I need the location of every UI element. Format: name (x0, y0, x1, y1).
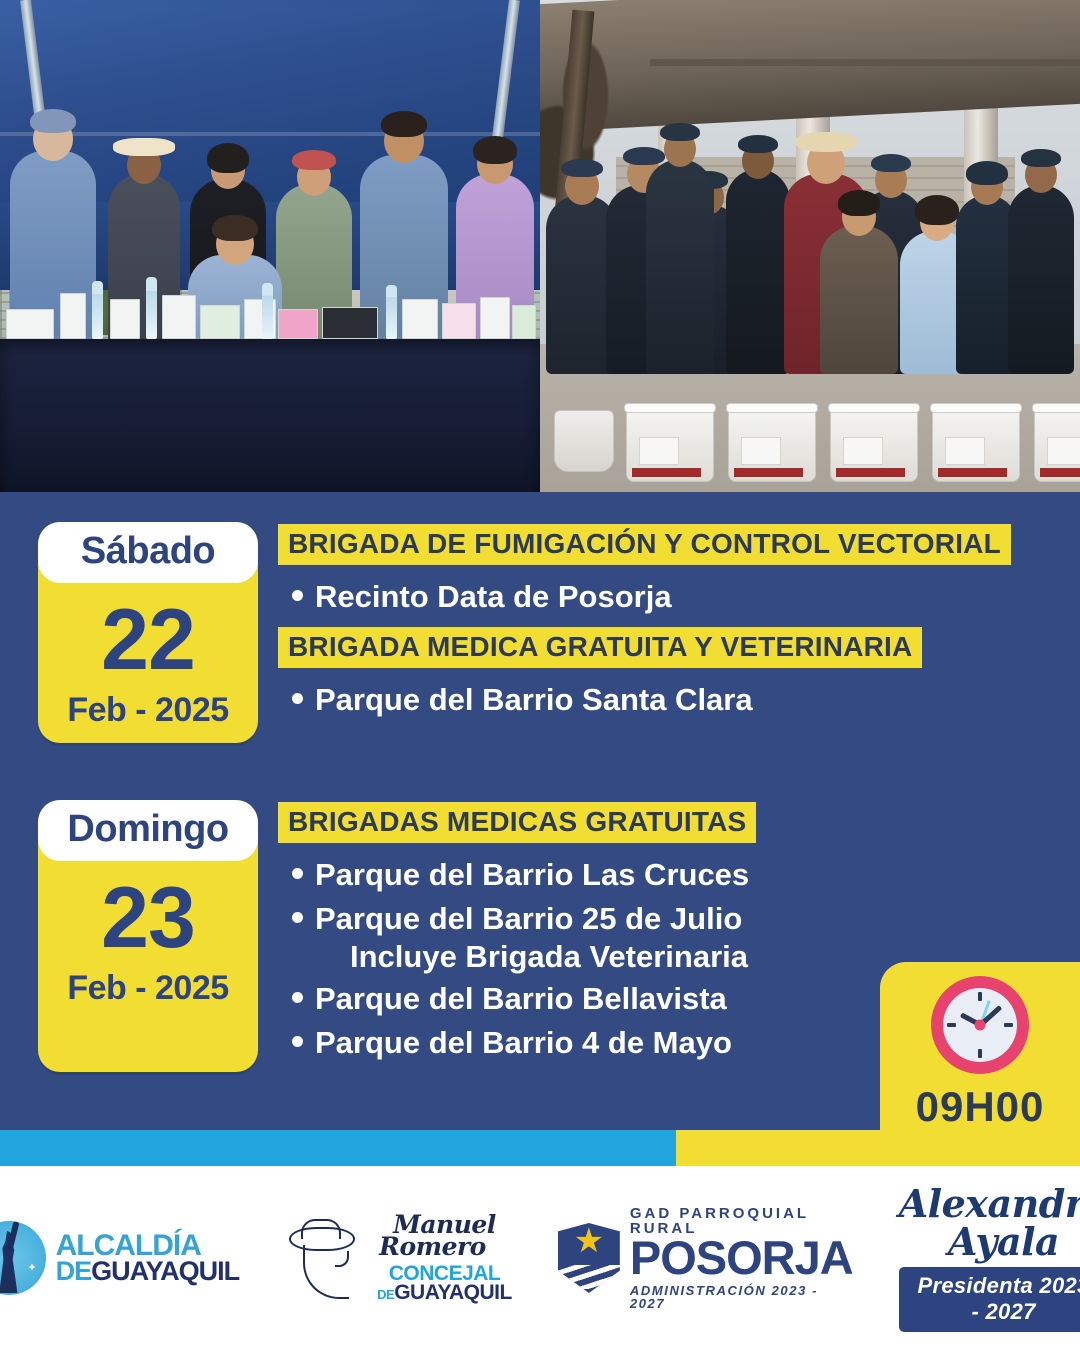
signature-line2: Romero (353, 1236, 512, 1259)
person-cap (1021, 149, 1061, 167)
shield-stripes (554, 1265, 623, 1289)
star-icon: ✦ (27, 1261, 36, 1274)
bullet-icon (292, 693, 303, 704)
person (646, 159, 714, 374)
alcaldia-guayaquil: GUAYAQUIL (91, 1256, 239, 1286)
water-bottle (386, 285, 397, 339)
medicine-boxes-row (0, 276, 540, 340)
clock-face (943, 988, 1017, 1062)
person-hat (113, 138, 175, 156)
medical-brigade-tent-photo (0, 0, 540, 492)
venue-label: Parque del Barrio 4 de Mayo (315, 1023, 732, 1063)
date-card-sunday: Domingo 23 Feb - 2025 (38, 800, 258, 1072)
posorja-wordmark: GAD PARROQUIAL RURAL POSORJA ADMINISTRAC… (630, 1206, 853, 1310)
clock-center-pin (975, 1020, 986, 1031)
event-time-label: 09H00 (916, 1086, 1045, 1128)
venue-label: Parque del Barrio Santa Clara (315, 680, 753, 720)
shield-star-icon: ★ (558, 1223, 620, 1293)
medicine-box (480, 297, 510, 339)
alcaldia-de-guayaquil-logo: ✦ ✦ ALCALDÍA DEGUAYAQUIL (0, 1221, 239, 1295)
person-cap (561, 159, 603, 177)
medicine-box (512, 305, 536, 339)
month-year-label: Feb - 2025 (67, 971, 228, 1021)
venue-label: Recinto Data de Posorja (315, 577, 672, 617)
medicine-box (60, 293, 86, 339)
person-hair (473, 136, 517, 164)
medicine-box (110, 299, 140, 339)
clock-tick-6 (978, 1049, 982, 1058)
bucket-red-band (632, 468, 701, 477)
person-hood (966, 161, 1008, 185)
alexandra-ayala-wordmark: Alexandra Ayala Presidenta 2023 - 2027 (899, 1185, 1080, 1332)
weekday-label: Domingo (38, 800, 258, 861)
venue-label: Parque del Barrio Bellavista (315, 979, 727, 1019)
person-hair (915, 195, 959, 225)
venue-list-medica-veterinaria: Parque del Barrio Santa Clara (278, 678, 1038, 722)
person-hair (207, 143, 249, 173)
white-bucket (554, 410, 614, 472)
bucket-red-band (938, 468, 1007, 477)
alcaldia-wordmark: ALCALDÍA DEGUAYAQUIL (56, 1232, 240, 1284)
medicine-box (402, 299, 438, 339)
guayaquil-monument-icon: ✦ ✦ (0, 1221, 46, 1295)
poster-root: Sábado 22 Feb - 2025 BRIGADA DE FUMIGACI… (0, 0, 1080, 1350)
bullet-icon (292, 912, 303, 923)
bottom-bar-yellow (676, 1130, 1080, 1166)
bullet-icon (292, 1036, 303, 1047)
bucket-lid (930, 403, 1022, 413)
medicine-box (6, 309, 54, 339)
person-cap (292, 150, 336, 170)
person-cap (623, 147, 665, 165)
concejal-de: DE (377, 1287, 394, 1302)
day-number: 22 (101, 597, 195, 683)
section-title-brigadas-medicas: BRIGADAS MEDICAS GRATUITAS (278, 802, 756, 843)
water-bottle (262, 283, 273, 339)
clock-icon (931, 976, 1029, 1074)
alexandra-ayala-signature: Alexandra Ayala (899, 1185, 1080, 1261)
concejal-guayaquil: GUAYAQUIL (394, 1281, 512, 1304)
venue-label: Parque del Barrio Las Cruces (315, 855, 749, 895)
medicine-box (162, 295, 196, 339)
clock-tick-9 (947, 1023, 956, 1027)
medicine-box (278, 309, 318, 339)
insecticide-bucket (1034, 408, 1080, 482)
blood-pressure-monitor (322, 307, 378, 339)
person-vest (820, 226, 898, 374)
person-cap (871, 154, 911, 172)
bucket-lid (726, 403, 818, 413)
medicine-box (200, 305, 240, 339)
bullet-icon (292, 992, 303, 1003)
alcaldia-de: DE (56, 1256, 92, 1286)
person-cap (30, 109, 76, 133)
bucket-label (639, 437, 679, 466)
draped-table (0, 339, 540, 492)
venue-item: Parque del Barrio Santa Clara (278, 678, 1038, 722)
gad-parroquial-posorja-logo: ★ GAD PARROQUIAL RURAL POSORJA ADMINISTR… (558, 1206, 853, 1310)
person-cap (738, 135, 778, 153)
footer-logos: ✦ ✦ ALCALDÍA DEGUAYAQUIL Manuel Romero (0, 1166, 1080, 1350)
presidenta-badge: Presidenta 2023 - 2027 (899, 1267, 1080, 1332)
bullet-icon (292, 868, 303, 879)
insecticide-bucket (932, 408, 1020, 482)
concejal-city: DEGUAYAQUIL (377, 1284, 512, 1303)
section-title-medica-veterinaria: BRIGADA MEDICA GRATUITA Y VETERINARIA (278, 627, 922, 668)
medicine-box (442, 303, 476, 339)
posorja-name: POSORJA (630, 1236, 853, 1281)
bucket-red-band (734, 468, 803, 477)
weekday-label: Sábado (38, 522, 258, 583)
insecticide-bucket (626, 408, 714, 482)
water-bottle (92, 281, 103, 339)
manuel-romero-signature: Manuel Romero (377, 1214, 512, 1259)
concejal-subtitle: CONCEJAL DEGUAYAQUIL (377, 1265, 512, 1303)
month-year-label: Feb - 2025 (67, 693, 228, 743)
clock-tick-12 (978, 992, 982, 1001)
bottom-bar-cyan (0, 1130, 676, 1166)
bucket-lid (624, 403, 716, 413)
alcaldia-line1: ALCALDÍA (56, 1232, 240, 1260)
date-card-saturday: Sábado 22 Feb - 2025 (38, 522, 258, 743)
person-hair (381, 111, 427, 137)
day-number: 23 (101, 875, 195, 961)
bucket-label (945, 437, 985, 466)
bucket-label (843, 437, 883, 466)
posorja-administration: ADMINISTRACIÓN 2023 - 2027 (630, 1284, 853, 1310)
photo-strip (0, 0, 1080, 492)
alcaldia-line2: DEGUAYAQUIL (56, 1259, 240, 1284)
fumigation-crew-group (540, 118, 1080, 374)
person-straw-hat (795, 132, 857, 152)
manuel-romero-wordmark: Manuel Romero CONCEJAL DEGUAYAQUIL (377, 1214, 512, 1303)
manuel-romero-concejal-logo: Manuel Romero CONCEJAL DEGUAYAQUIL (285, 1214, 512, 1303)
day-content-saturday: BRIGADA DE FUMIGACIÓN Y CONTROL VECTORIA… (278, 522, 1038, 743)
bucket-red-band (1040, 468, 1080, 477)
shed-beam (650, 59, 1080, 66)
section-title-fumigacion: BRIGADA DE FUMIGACIÓN Y CONTROL VECTORIA… (278, 524, 1011, 565)
time-badge: 09H00 (880, 962, 1080, 1130)
insecticide-bucket (830, 408, 918, 482)
man-with-hat-icon (285, 1215, 371, 1301)
fumigation-crew-photo (540, 0, 1080, 492)
bucket-red-band (836, 468, 905, 477)
bucket-lid (828, 403, 920, 413)
day-block-saturday: Sábado 22 Feb - 2025 BRIGADA DE FUMIGACI… (38, 522, 1038, 743)
person-hair (838, 190, 880, 216)
clock-tick-3 (1004, 1023, 1013, 1027)
person-cap (660, 123, 700, 141)
person (1008, 185, 1074, 374)
insecticide-bucket (728, 408, 816, 482)
venue-item: Parque del Barrio Las Cruces (278, 853, 1038, 897)
bucket-label (1047, 437, 1080, 466)
venue-item: Recinto Data de Posorja (278, 575, 1038, 619)
alexandra-ayala-logo: Alexandra Ayala Presidenta 2023 - 2027 (899, 1185, 1080, 1332)
bucket-label (741, 437, 781, 466)
bullet-icon (292, 590, 303, 601)
venue-label: Parque del Barrio 25 de Julio (315, 899, 742, 939)
venue-item: Parque del Barrio 25 de Julio (278, 897, 1038, 941)
bucket-lid (1032, 403, 1080, 413)
water-bottle (146, 277, 157, 339)
venue-list-fumigacion: Recinto Data de Posorja (278, 575, 1038, 619)
person (726, 169, 790, 374)
person-hair (212, 215, 258, 241)
star-icon: ★ (574, 1224, 604, 1258)
